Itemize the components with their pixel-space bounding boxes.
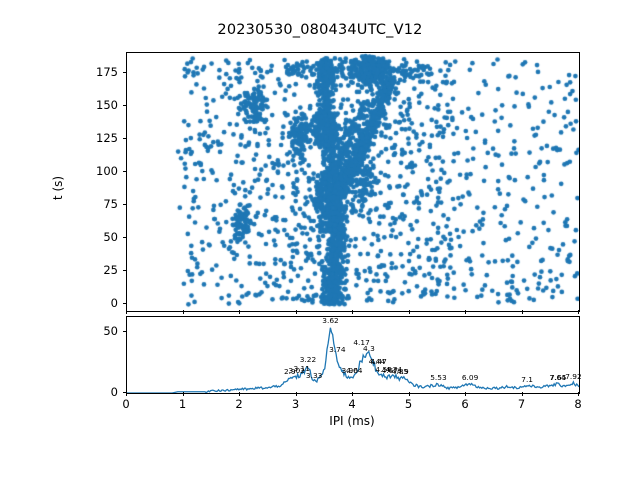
histogram-peak-label: 3.33 <box>306 372 322 379</box>
scatter-points-layer <box>127 53 579 311</box>
scatter-x-tick-mark <box>296 310 297 314</box>
scatter-x-tick-mark <box>465 310 466 314</box>
scatter-y-tick-label: 75 <box>72 197 118 211</box>
histogram-x-tick-mark <box>409 392 410 396</box>
scatter-y-tick-mark <box>123 105 127 106</box>
scatter-y-axis-label: t (s) <box>51 128 65 248</box>
histogram-y-tick-mark <box>123 331 127 332</box>
histogram-x-tick-mark <box>239 392 240 396</box>
histogram-peak-label: 3.22 <box>300 356 316 363</box>
scatter-x-tick-mark <box>409 310 410 314</box>
scatter-y-tick-label: 0 <box>72 296 118 310</box>
histogram-x-tick-mark <box>183 392 184 396</box>
histogram-x-tick-mark <box>578 392 579 396</box>
scatter-x-tick-mark <box>126 310 127 314</box>
scatter-plot-axes <box>126 52 580 312</box>
histogram-x-tick-label: 7 <box>502 397 542 411</box>
scatter-x-tick-mark <box>352 310 353 314</box>
scatter-y-tick-mark <box>123 237 127 238</box>
histogram-axes <box>126 316 580 394</box>
histogram-x-tick-label: 0 <box>106 397 146 411</box>
histogram-x-tick-mark <box>352 392 353 396</box>
scatter-y-tick-mark <box>123 270 127 271</box>
histogram-x-tick-label: 4 <box>332 397 372 411</box>
histogram-peak-label: 7.92 <box>565 373 581 380</box>
histogram-peak-label: 4.04 <box>346 367 362 374</box>
histogram-peak-label: 4.9 <box>397 368 409 375</box>
figure: 20230530_080434UTC_V12 t (s) IPI (ms) 02… <box>0 0 640 480</box>
scatter-x-tick-mark <box>522 310 523 314</box>
scatter-x-tick-mark <box>239 310 240 314</box>
scatter-y-tick-mark <box>123 72 127 73</box>
histogram-x-tick-label: 3 <box>276 397 316 411</box>
scatter-y-tick-label: 100 <box>72 164 118 178</box>
histogram-line-layer <box>127 317 579 393</box>
histogram-x-tick-mark <box>522 392 523 396</box>
histogram-peak-label: 6.09 <box>462 374 478 381</box>
scatter-y-tick-label: 125 <box>72 131 118 145</box>
histogram-x-tick-label: 6 <box>445 397 485 411</box>
scatter-y-tick-mark <box>123 303 127 304</box>
scatter-x-tick-mark <box>578 310 579 314</box>
histogram-peak-label: 4.3 <box>363 345 375 352</box>
scatter-y-tick-label: 25 <box>72 263 118 277</box>
histogram-peak-label: 3.74 <box>329 346 345 353</box>
scatter-y-tick-label: 50 <box>72 230 118 244</box>
histogram-peak-label: 5.53 <box>430 374 446 381</box>
histogram-x-tick-label: 5 <box>389 397 429 411</box>
scatter-y-tick-label: 175 <box>72 65 118 79</box>
scatter-y-tick-label: 150 <box>72 98 118 112</box>
scatter-y-tick-mark <box>123 204 127 205</box>
scatter-y-tick-mark <box>123 171 127 172</box>
figure-title: 20230530_080434UTC_V12 <box>0 22 640 38</box>
scatter-y-tick-mark <box>123 138 127 139</box>
histogram-x-tick-label: 8 <box>558 397 598 411</box>
histogram-x-tick-label: 2 <box>219 397 259 411</box>
histogram-peak-label: 3.62 <box>322 317 338 324</box>
histogram-peak-label: 7.65 <box>550 374 566 381</box>
histogram-x-tick-mark <box>465 392 466 396</box>
histogram-y-tick-label: 50 <box>72 324 118 338</box>
histogram-peak-label: 7.1 <box>521 376 533 383</box>
scatter-x-tick-mark <box>183 310 184 314</box>
histogram-x-tick-mark <box>126 392 127 396</box>
histogram-x-tick-label: 1 <box>163 397 203 411</box>
histogram-x-tick-mark <box>296 392 297 396</box>
x-axis-label: IPI (ms) <box>126 414 578 428</box>
